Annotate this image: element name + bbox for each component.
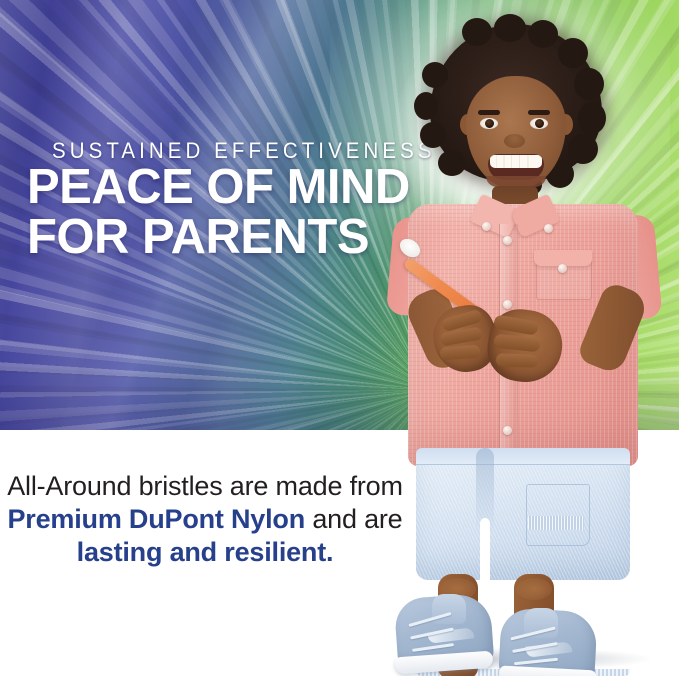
eye-right (530, 118, 548, 129)
caption-emphasis-2: lasting and resilient. (77, 537, 334, 567)
caption-emphasis-1: Premium DuPont Nylon (7, 504, 305, 534)
pocket-button (558, 264, 567, 273)
shorts-cargo-pocket (526, 484, 590, 546)
caption-text: All-Around bristles are made from Premiu… (0, 470, 410, 569)
shirt-button (503, 236, 512, 245)
teeth (490, 155, 542, 168)
hair-curl (558, 38, 588, 68)
pupil-left (485, 119, 494, 128)
pupil-right (535, 119, 544, 128)
hair-curl (420, 122, 446, 148)
eye-left (480, 118, 498, 129)
hair-curl (528, 20, 558, 48)
collar-button (482, 222, 491, 231)
caption-part-1: All-Around bristles are made from (7, 471, 403, 501)
child-photo (376, 18, 679, 676)
product-feature-image: SUSTAINED EFFECTIVENESS PEACE OF MIND FO… (0, 0, 679, 676)
hair-curl (462, 18, 492, 46)
nose (504, 134, 525, 148)
shorts-texture (416, 448, 630, 580)
shorts-leg-gap (480, 518, 490, 580)
shorts (416, 448, 630, 580)
headline-line-1: PEACE OF MIND (27, 160, 410, 214)
knee-right (516, 578, 552, 600)
finger (440, 345, 481, 361)
eyebrow-left (478, 110, 500, 115)
eyebrow-right (528, 110, 550, 115)
hair-curl (578, 102, 606, 134)
shirt-button (503, 426, 512, 435)
hair-curl (422, 62, 448, 88)
hair-curl (414, 92, 438, 120)
shirt-button (503, 300, 512, 309)
hair-curl (438, 150, 466, 176)
collar-button (544, 224, 553, 233)
shorts-waistband (416, 448, 630, 465)
finger (496, 353, 538, 367)
hair-curl (494, 14, 526, 42)
shoe-tongue-left (432, 594, 466, 624)
hair-curl (568, 134, 598, 164)
shorts-distressed-patch (528, 516, 584, 530)
hair-curl (574, 68, 604, 100)
